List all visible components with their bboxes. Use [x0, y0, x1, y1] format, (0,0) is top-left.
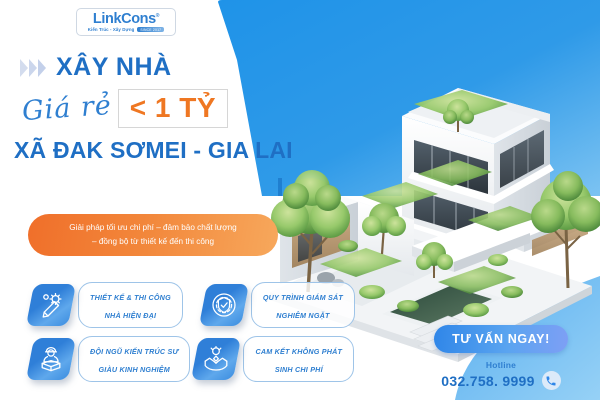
feature-label-supervision: QUY TRÌNH GIÁM SÁT NGHIÊM NGẶT — [251, 282, 355, 328]
feature-line-2: NHÀ HIỆN ĐẠI — [105, 311, 157, 320]
consult-now-button[interactable]: TƯ VẤN NGAY! — [434, 325, 568, 353]
subhead-pill: Giải pháp tối ưu chi phí – đảm bảo chất … — [28, 214, 278, 256]
tree-mid — [362, 203, 406, 254]
shield-check-target-icon — [199, 284, 249, 326]
brand-logo[interactable]: LinkCons® Kiến Trúc - Xây Dựng SINCE 201… — [76, 8, 176, 36]
subhead-line-1: Giải pháp tối ưu chi phí – đảm bảo chất … — [42, 221, 264, 235]
feature-line-2: SINH CHI PHÍ — [275, 365, 323, 374]
price-box: < 1 TỶ — [118, 89, 228, 128]
price-value: < 1 TỶ — [130, 92, 216, 123]
phone-icon[interactable] — [542, 371, 561, 390]
architect-engineer-icon — [26, 338, 76, 380]
tree-right — [531, 171, 600, 288]
headline-primary: XÂY NHÀ — [56, 55, 172, 80]
subhead-line-2: – đồng bộ từ thiết kế đến thi công — [42, 235, 264, 249]
feature-line-1: QUY TRÌNH GIÁM SÁT — [263, 293, 343, 302]
feature-item-no-extra-cost[interactable]: CAM KẾT KHÔNG PHÁT SINH CHI PHÍ — [195, 336, 354, 382]
feature-line-1: THIẾT KẾ & THI CÔNG — [90, 293, 171, 302]
logo-wordmark: LinkCons® — [93, 12, 159, 27]
feature-line-2: GIÀU KINH NGHIỆM — [99, 365, 170, 374]
promo-banner: LinkCons® Kiến Trúc - Xây Dựng SINCE 201… — [0, 0, 600, 400]
chevron-right-icon — [20, 59, 46, 77]
feature-label-architect-team: ĐỘI NGŨ KIẾN TRÚC SƯ GIÀU KINH NGHIỆM — [78, 336, 190, 382]
headline-location: XÃ ĐAK SƠMEI - GIA LAI — [0, 139, 320, 162]
tree-left — [271, 170, 350, 292]
feature-line-1: ĐỘI NGŨ KIẾN TRÚC SƯ — [90, 347, 178, 356]
handshake-icon — [191, 338, 241, 380]
feature-item-architect-team[interactable]: ĐỘI NGŨ KIẾN TRÚC SƯ GIÀU KINH NGHIỆM — [30, 336, 190, 382]
logo-tagline: Kiến Trúc - Xây Dựng — [88, 27, 135, 32]
feature-item-supervision[interactable]: QUY TRÌNH GIÁM SÁT NGHIÊM NGẶT — [203, 282, 355, 328]
feature-label-design-build: THIẾT KẾ & THI CÔNG NHÀ HIỆN ĐẠI — [78, 282, 183, 328]
headline-block: XÂY NHÀ Giá rẻ < 1 TỶ XÃ ĐAK SƠMEI - GIA… — [0, 55, 320, 162]
hotline-number[interactable]: 032.758. 9999 — [441, 373, 534, 389]
headline-script: Giá rẻ — [21, 92, 112, 125]
logo-since-badge: SINCE 2017 — [137, 27, 164, 32]
feature-label-no-extra-cost: CAM KẾT KHÔNG PHÁT SINH CHI PHÍ — [243, 336, 354, 382]
registered-icon: ® — [156, 13, 159, 19]
feature-item-design-build[interactable]: THIẾT KẾ & THI CÔNG NHÀ HIỆN ĐẠI — [30, 282, 183, 328]
hotline-label: Hotline — [416, 360, 586, 370]
feature-line-2: NGHIÊM NGẶT — [276, 311, 329, 320]
pencil-gear-icon — [26, 284, 76, 326]
cta-block: TƯ VẤN NGAY! Hotline 032.758. 9999 — [416, 325, 586, 390]
feature-line-1: CAM KẾT KHÔNG PHÁT — [255, 347, 342, 356]
feature-list: THIẾT KẾ & THI CÔNG NHÀ HIỆN ĐẠI QUY TRÌ… — [0, 282, 430, 382]
